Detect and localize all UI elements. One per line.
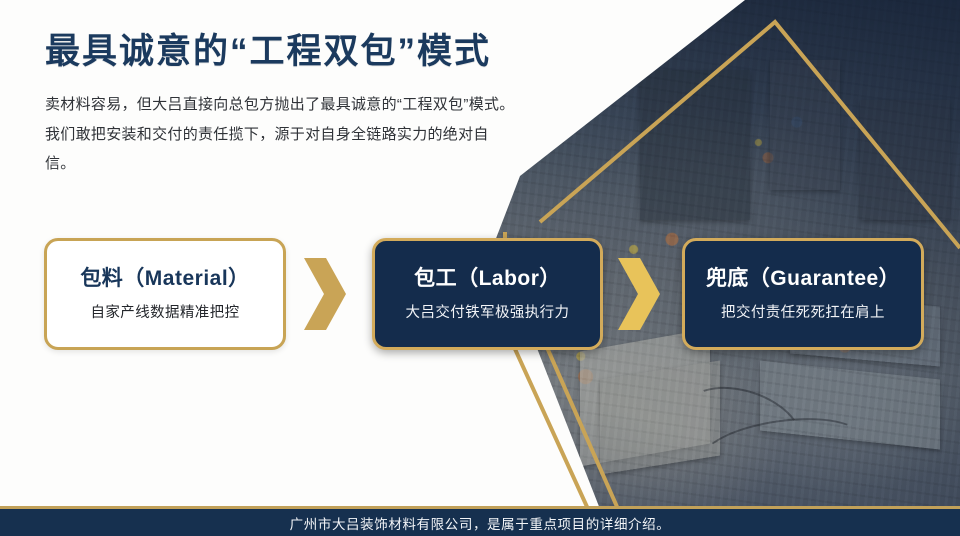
headline-block: 最具诚意的“工程双包”模式 卖材料容易，但大吕直接向总包方抛出了最具诚意的“工程… <box>45 32 565 178</box>
page-title: 最具诚意的“工程双包”模式 <box>45 32 565 72</box>
card-guarantee-subtitle: 把交付责任死死扛在肩上 <box>721 301 885 322</box>
chevron-right-icon <box>616 256 662 332</box>
card-guarantee-title: 兜底（Guarantee） <box>706 266 900 292</box>
footer-bar: 广州市大吕装饰材料有限公司，是属于重点项目的详细介绍。 <box>0 506 960 536</box>
card-labor[interactable]: 包工（Labor） 大吕交付铁军极强执行力 <box>372 238 603 350</box>
card-material[interactable]: 包料（Material） 自家产线数据精准把控 <box>44 238 286 350</box>
card-labor-title: 包工（Labor） <box>414 266 561 292</box>
footer-text: 广州市大吕装饰材料有限公司，是属于重点项目的详细介绍。 <box>290 513 671 533</box>
card-material-title: 包料（Material） <box>80 266 249 292</box>
card-material-subtitle: 自家产线数据精准把控 <box>91 301 240 322</box>
card-labor-subtitle: 大吕交付铁军极强执行力 <box>406 301 570 322</box>
slide-canvas: 最具诚意的“工程双包”模式 卖材料容易，但大吕直接向总包方抛出了最具诚意的“工程… <box>0 0 960 536</box>
card-guarantee[interactable]: 兜底（Guarantee） 把交付责任死死扛在肩上 <box>682 238 924 350</box>
chevron-right-icon <box>302 256 348 332</box>
intro-paragraph: 卖材料容易，但大吕直接向总包方抛出了最具诚意的“工程双包”模式。我们敢把安装和交… <box>45 90 515 178</box>
process-card-row: 包料（Material） 自家产线数据精准把控 包工（Labor） 大吕交付铁军… <box>44 238 924 350</box>
